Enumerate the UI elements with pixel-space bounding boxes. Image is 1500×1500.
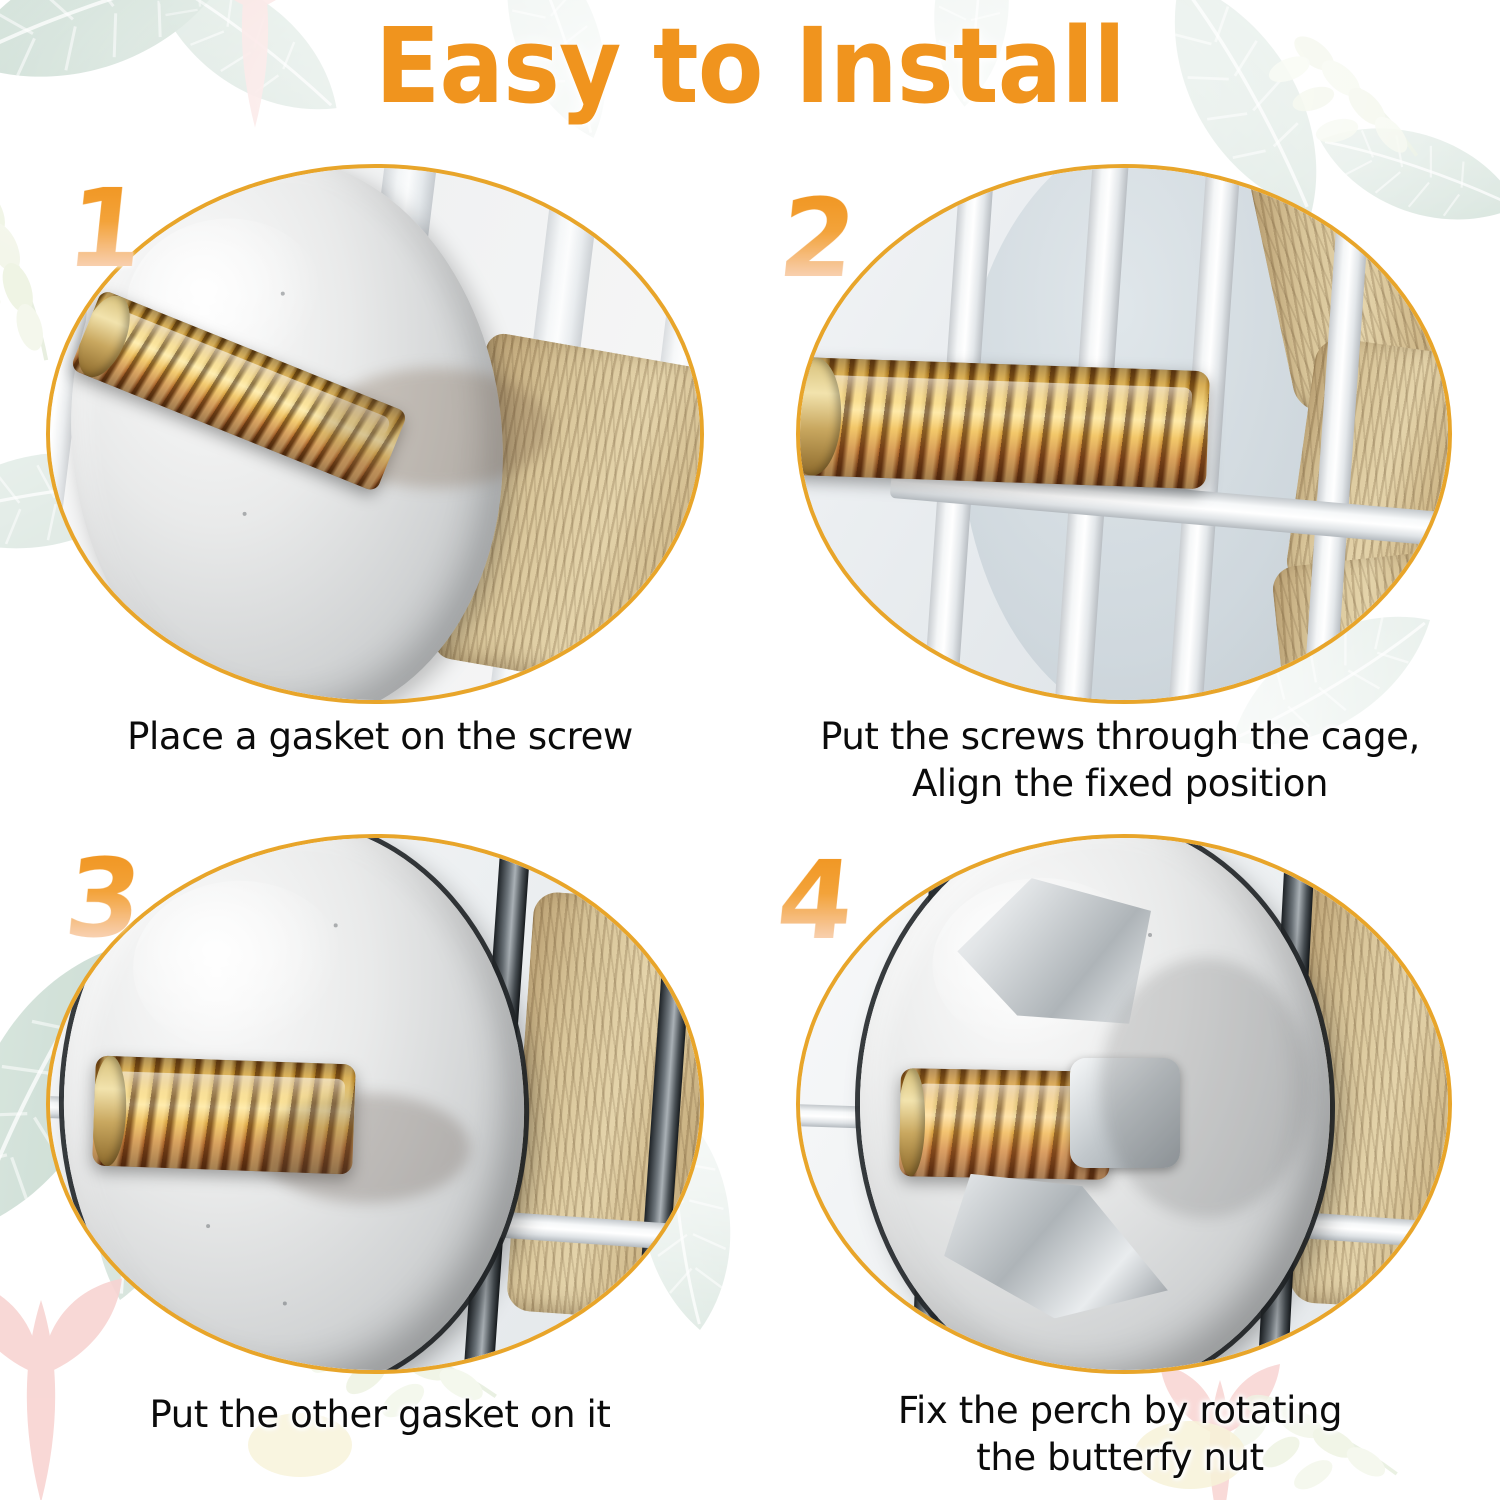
step-2-caption: Put the screws through the cage, Align t… [770, 714, 1470, 807]
step-2-number: 2 [774, 186, 861, 294]
step-1-number: 1 [62, 176, 149, 284]
page-title: Easy to Install [60, 14, 1440, 118]
step-3-number: 3 [60, 846, 147, 954]
step-1-photo [50, 168, 700, 700]
infographic-root: Easy to Install [0, 0, 1500, 1500]
step-4-caption: Fix the perch by rotating the butterfy n… [770, 1388, 1470, 1481]
step-1-caption: Place a gasket on the screw [40, 714, 720, 761]
step-3-photo [50, 838, 700, 1370]
step-2-photo [800, 168, 1448, 700]
step-4-number: 4 [772, 848, 859, 956]
threaded-screw [800, 357, 1210, 490]
step-3-caption: Put the other gasket on it [40, 1392, 720, 1439]
step-4-photo [800, 838, 1448, 1370]
